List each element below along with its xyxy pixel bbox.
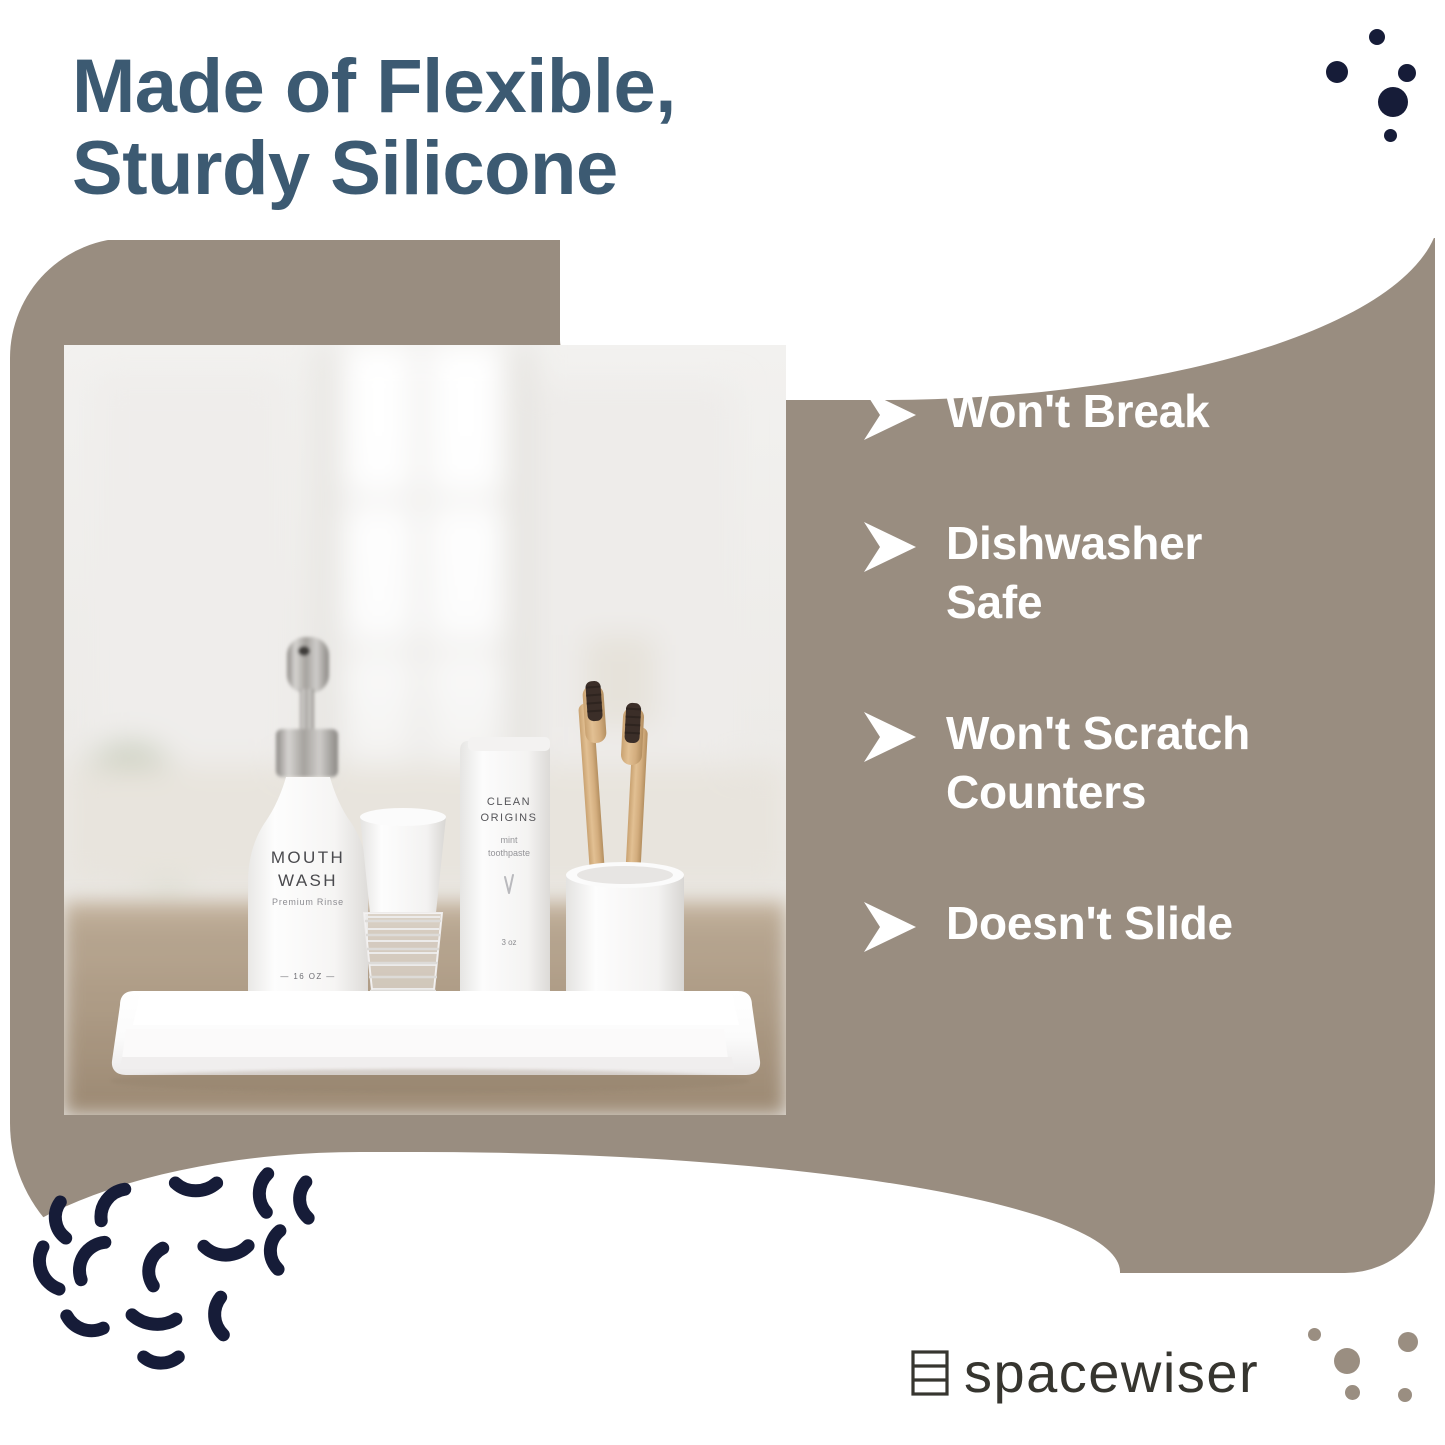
product-infographic: Made of Flexible, Sturdy Silicone <box>0 0 1445 1445</box>
product-photo: MOUTH WASH Premium Rinse — 16 OZ — <box>64 345 786 1115</box>
svg-text:mint: mint <box>500 835 518 845</box>
dot <box>1378 87 1408 117</box>
dot <box>1369 29 1385 45</box>
svg-text:— 16 OZ —: — 16 OZ — <box>280 972 335 981</box>
crescent-cluster-icon <box>26 1168 356 1378</box>
feature-label: Won't Scratch Counters <box>946 704 1316 822</box>
brand-logo: spacewiser <box>908 1345 1259 1401</box>
arrow-right-icon <box>862 900 918 954</box>
dot <box>1398 1388 1412 1402</box>
feature-item-dishwasher-safe: Dishwasher Safe <box>862 514 1332 632</box>
feature-item-wont-scratch-counters: Won't Scratch Counters <box>862 704 1332 822</box>
feature-label: Doesn't Slide <box>946 894 1233 953</box>
svg-text:3 oz: 3 oz <box>501 938 516 947</box>
svg-text:ORIGINS: ORIGINS <box>481 812 538 824</box>
brand-name: spacewiser <box>964 1345 1259 1401</box>
headline-line-1: Made of Flexible, <box>72 46 892 128</box>
arrow-right-icon <box>862 710 918 764</box>
feature-label: Won't Break <box>946 382 1210 441</box>
svg-text:toothpaste: toothpaste <box>488 848 530 858</box>
dot <box>1308 1328 1321 1341</box>
dot <box>1398 1332 1418 1352</box>
headline: Made of Flexible, Sturdy Silicone <box>72 46 892 210</box>
dot <box>1326 61 1348 83</box>
feature-item-wont-break: Won't Break <box>862 382 1332 442</box>
dot-cluster-icon-top-right <box>1290 20 1445 165</box>
dot-cluster-icon-bottom-right <box>1298 1328 1443 1443</box>
svg-text:WASH: WASH <box>278 871 338 890</box>
feature-label: Dishwasher Safe <box>946 514 1276 632</box>
dot <box>1345 1385 1360 1400</box>
dot <box>1384 129 1397 142</box>
svg-text:MOUTH: MOUTH <box>271 848 345 867</box>
shelf-icon <box>908 1348 952 1398</box>
feature-list: Won't Break Dishwasher Safe Won't Scratc… <box>862 382 1332 954</box>
feature-item-doesnt-slide: Doesn't Slide <box>862 894 1332 954</box>
arrow-right-icon <box>862 388 918 442</box>
arrow-right-icon <box>862 520 918 574</box>
dot <box>1398 64 1416 82</box>
dot <box>1334 1348 1360 1374</box>
svg-text:CLEAN: CLEAN <box>487 796 531 808</box>
svg-text:Premium Rinse: Premium Rinse <box>272 897 344 907</box>
headline-line-2: Sturdy Silicone <box>72 128 892 210</box>
